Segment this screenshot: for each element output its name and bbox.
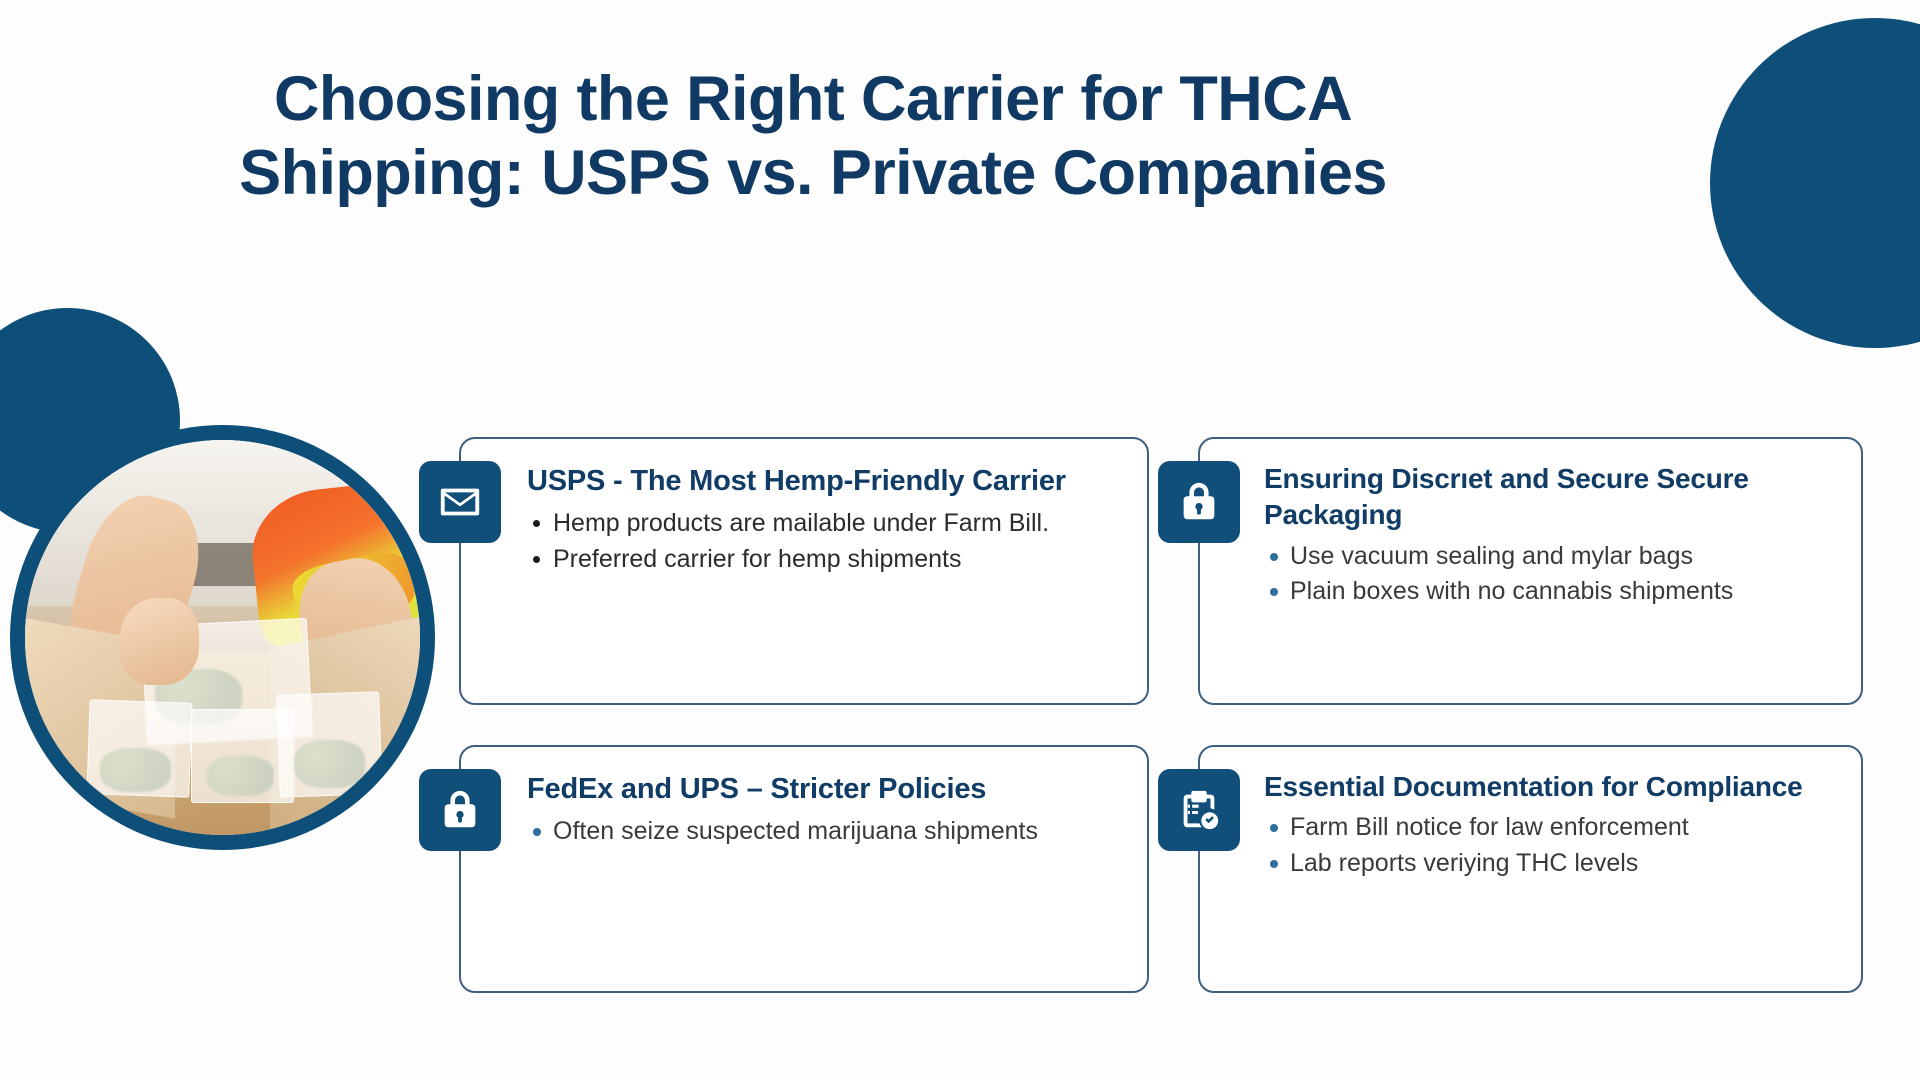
photo-circle-frame	[10, 425, 435, 850]
card-fedex-ups[interactable]: FedEx and UPS – Stricter Policies Often …	[459, 745, 1149, 993]
list-item: Plain boxes with no cannabis shipments	[1264, 575, 1835, 609]
card-title: USPS - The Most Hemp-Friendly Carrier	[527, 461, 1121, 501]
lock-icon	[419, 769, 501, 851]
card-title: FedEx and UPS – Stricter Policies	[527, 769, 1121, 809]
list-item: Hemp products are mailable under Farm Bi…	[527, 507, 1121, 541]
card-essential-documentation[interactable]: Essential Documentation for Compliance F…	[1198, 745, 1863, 993]
card-bullet-list: Farm Bill notice for law enforcement Lab…	[1264, 811, 1835, 880]
list-item: Use vacuum sealing and mylar bags	[1264, 540, 1835, 574]
title-line-1: Choosing the Right Carrier for THCA	[168, 62, 1458, 136]
lock-icon	[1158, 461, 1240, 543]
page-title: Choosing the Right Carrier for THCA Ship…	[168, 62, 1458, 211]
card-usps[interactable]: USPS - The Most Hemp-Friendly Carrier He…	[459, 437, 1149, 705]
list-item: Preferred carrier for hemp shipments	[527, 543, 1121, 577]
list-item: Lab reports veriying THC levels	[1264, 847, 1835, 881]
decorative-circle-top-right	[1710, 18, 1920, 348]
list-item: Farm Bill notice for law enforcement	[1264, 811, 1835, 845]
hemp-packing-photo	[25, 440, 420, 835]
card-secure-packaging[interactable]: Ensuring Discrıet and Secure Secure Pack…	[1198, 437, 1863, 705]
card-bullet-list: Hemp products are mailable under Farm Bi…	[527, 507, 1121, 576]
card-title: Ensuring Discrıet and Secure Secure Pack…	[1264, 461, 1835, 534]
clipboard-check-icon	[1158, 769, 1240, 851]
card-bullet-list: Use vacuum sealing and mylar bags Plain …	[1264, 540, 1835, 609]
card-title: Essential Documentation for Compliance	[1264, 769, 1835, 805]
slide-canvas: Choosing the Right Carrier for THCA Ship…	[0, 0, 1920, 1080]
list-item: Often seize suspected marijuana shipment…	[527, 815, 1121, 849]
title-line-2: Shipping: USPS vs. Private Companies	[168, 136, 1458, 210]
card-bullet-list: Often seize suspected marijuana shipment…	[527, 815, 1121, 849]
envelope-icon	[419, 461, 501, 543]
